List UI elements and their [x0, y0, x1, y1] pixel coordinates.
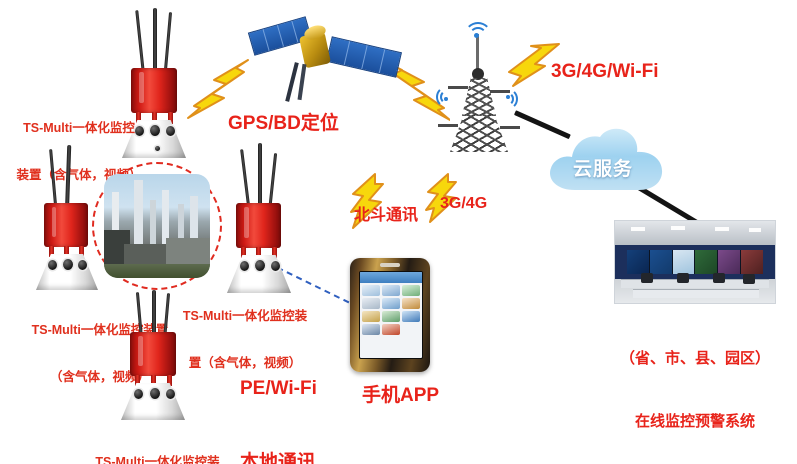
app-icon[interactable]	[382, 324, 400, 335]
wifi-signal-top-icon	[464, 22, 490, 38]
phone-app-label: 手机APP	[362, 384, 439, 408]
sensor-port	[150, 388, 160, 399]
phone-screen[interactable]	[359, 271, 423, 359]
sensor-port	[134, 389, 143, 399]
console-desk	[633, 289, 759, 298]
solar-panel-right	[326, 36, 402, 78]
satellite-boom	[298, 64, 307, 100]
cloud-service-label: 云服务	[573, 154, 633, 181]
app-icon[interactable]	[362, 298, 380, 309]
local-comm-line1: PE/Wi-Fi	[240, 377, 317, 402]
device-body	[130, 332, 176, 376]
app-icon[interactable]	[382, 311, 400, 322]
satellite-boom	[285, 62, 299, 102]
device-label-bottom-line1: TS-Multi一体化监控装	[70, 455, 245, 464]
tower-arm	[438, 124, 458, 127]
device-body	[236, 203, 281, 248]
app-icon[interactable]	[382, 285, 400, 296]
operator-chair	[713, 273, 725, 283]
ceiling-light	[671, 226, 685, 230]
ceiling	[615, 221, 775, 245]
sensor-port	[255, 260, 265, 271]
sensor-port	[166, 126, 175, 136]
monitoring-device-center	[218, 143, 302, 293]
operator-chair	[641, 273, 653, 283]
device-label-bottom: TS-Multi一体化监控装 置（含气体，视频）	[70, 424, 245, 464]
app-icon[interactable]	[402, 285, 420, 296]
sensor-port	[48, 260, 57, 270]
operator-chair	[743, 274, 755, 284]
sensor-port	[155, 146, 160, 151]
ceiling-light	[749, 228, 761, 232]
industrial-plant-photo	[104, 174, 210, 278]
operator-chair	[677, 273, 689, 283]
app-icon[interactable]	[362, 324, 380, 335]
tower-upper-section	[462, 78, 496, 116]
local-comm-label: PE/Wi-Fi 本地通讯	[240, 328, 317, 464]
iot-architecture-diagram: TS-Multi一体化监控 装置（含气体，视频） TS-Multi一体化监控装置…	[0, 0, 797, 464]
ceiling-light	[715, 227, 729, 231]
satellite-icon	[248, 12, 406, 112]
mobile-link-label: 3G/4G	[440, 194, 487, 214]
sensor-port	[63, 259, 73, 270]
control-room-label-line2: 在线监控预警系统	[604, 411, 786, 432]
wifi-signal-right-icon	[502, 88, 518, 108]
app-icon[interactable]	[362, 311, 380, 322]
monitoring-device-bottom	[112, 290, 198, 420]
gps-link-label: GPS/BD定位	[228, 112, 339, 136]
app-title-bar	[360, 272, 422, 283]
phone-speaker	[380, 263, 400, 267]
sensor-port	[166, 389, 175, 399]
sensor-port	[271, 261, 280, 271]
device-body	[44, 203, 88, 247]
wireless-link-label: 3G/4G/Wi-Fi	[551, 60, 659, 84]
sensor-port	[240, 261, 249, 271]
app-icon[interactable]	[402, 311, 420, 322]
wifi-signal-left-icon	[436, 88, 452, 108]
sensor-port	[78, 260, 87, 270]
app-icon	[402, 324, 420, 335]
cell-tower-icon	[432, 20, 526, 152]
app-icon[interactable]	[402, 298, 420, 309]
control-room-photo	[614, 220, 776, 304]
cloud-service-node: 云服务	[541, 122, 671, 198]
ceiling-light	[631, 227, 645, 231]
app-icon[interactable]	[382, 298, 400, 309]
handheld-terminal[interactable]	[350, 258, 430, 372]
device-label-top-line1: TS-Multi一体化监控	[4, 121, 154, 137]
tower-arm	[500, 126, 520, 129]
app-icon[interactable]	[362, 285, 380, 296]
tower-lower-section	[450, 114, 508, 152]
beidou-link-label: 北斗通讯	[354, 206, 418, 226]
video-wall	[627, 250, 763, 274]
control-room-label: （省、市、县、园区） 在线监控预警系统	[604, 306, 786, 464]
control-room-label-line1: （省、市、县、园区）	[604, 348, 786, 369]
app-icon-grid[interactable]	[362, 285, 420, 335]
local-comm-line2: 本地通讯	[240, 451, 317, 464]
